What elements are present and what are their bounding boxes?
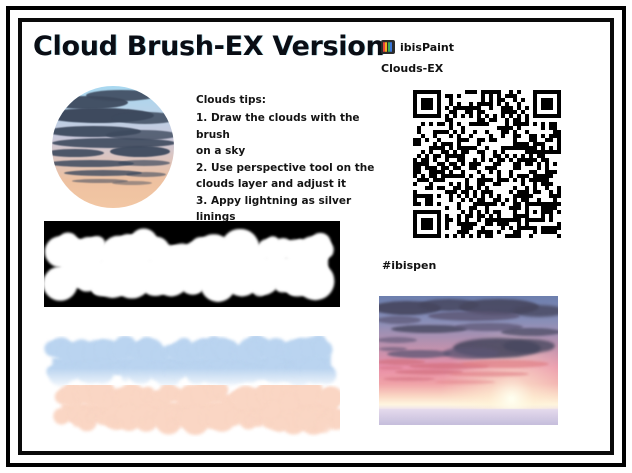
cloud-band [86,90,156,101]
cloud-band [112,112,174,124]
brand-badge: ibisPaint [381,40,454,54]
list-item: 2. Use perspective tool on the [196,160,386,177]
list-item: on a sky [196,143,386,160]
page-title: Cloud Brush-EX Version [33,31,384,62]
brush-name-label: Clouds-EX [381,62,443,75]
list-item: clouds layer and adjust it [196,176,386,193]
clouds-tips-heading: Clouds tips: [196,94,386,106]
clouds-tips-list: 1. Draw the clouds with the brush on a s… [196,110,386,226]
cloud-band [126,172,166,177]
peach-cloud-brush-stroke [34,385,340,437]
hashtag-label: #ibispen [382,259,436,272]
blue-cloud-brush-stroke [34,336,340,388]
list-item: 1. Draw the clouds with the brush [196,110,386,143]
white-cloud-brush-on-black [44,221,340,307]
cloud-band [112,181,152,185]
cloud-band [110,146,170,157]
sunset-sky-artwork [379,296,558,425]
qr-code[interactable] [413,90,561,238]
brand-name-label: ibisPaint [400,41,454,54]
clouds-tips-block: Clouds tips: 1. Draw the clouds with the… [196,94,386,226]
cloud-band [52,149,104,157]
ibispaint-app-icon [381,40,395,54]
cloud-band [118,160,170,166]
sky-sample-circle [52,86,174,208]
poster-canvas: Cloud Brush-EX Version ibisPaint Clouds-… [0,0,632,473]
